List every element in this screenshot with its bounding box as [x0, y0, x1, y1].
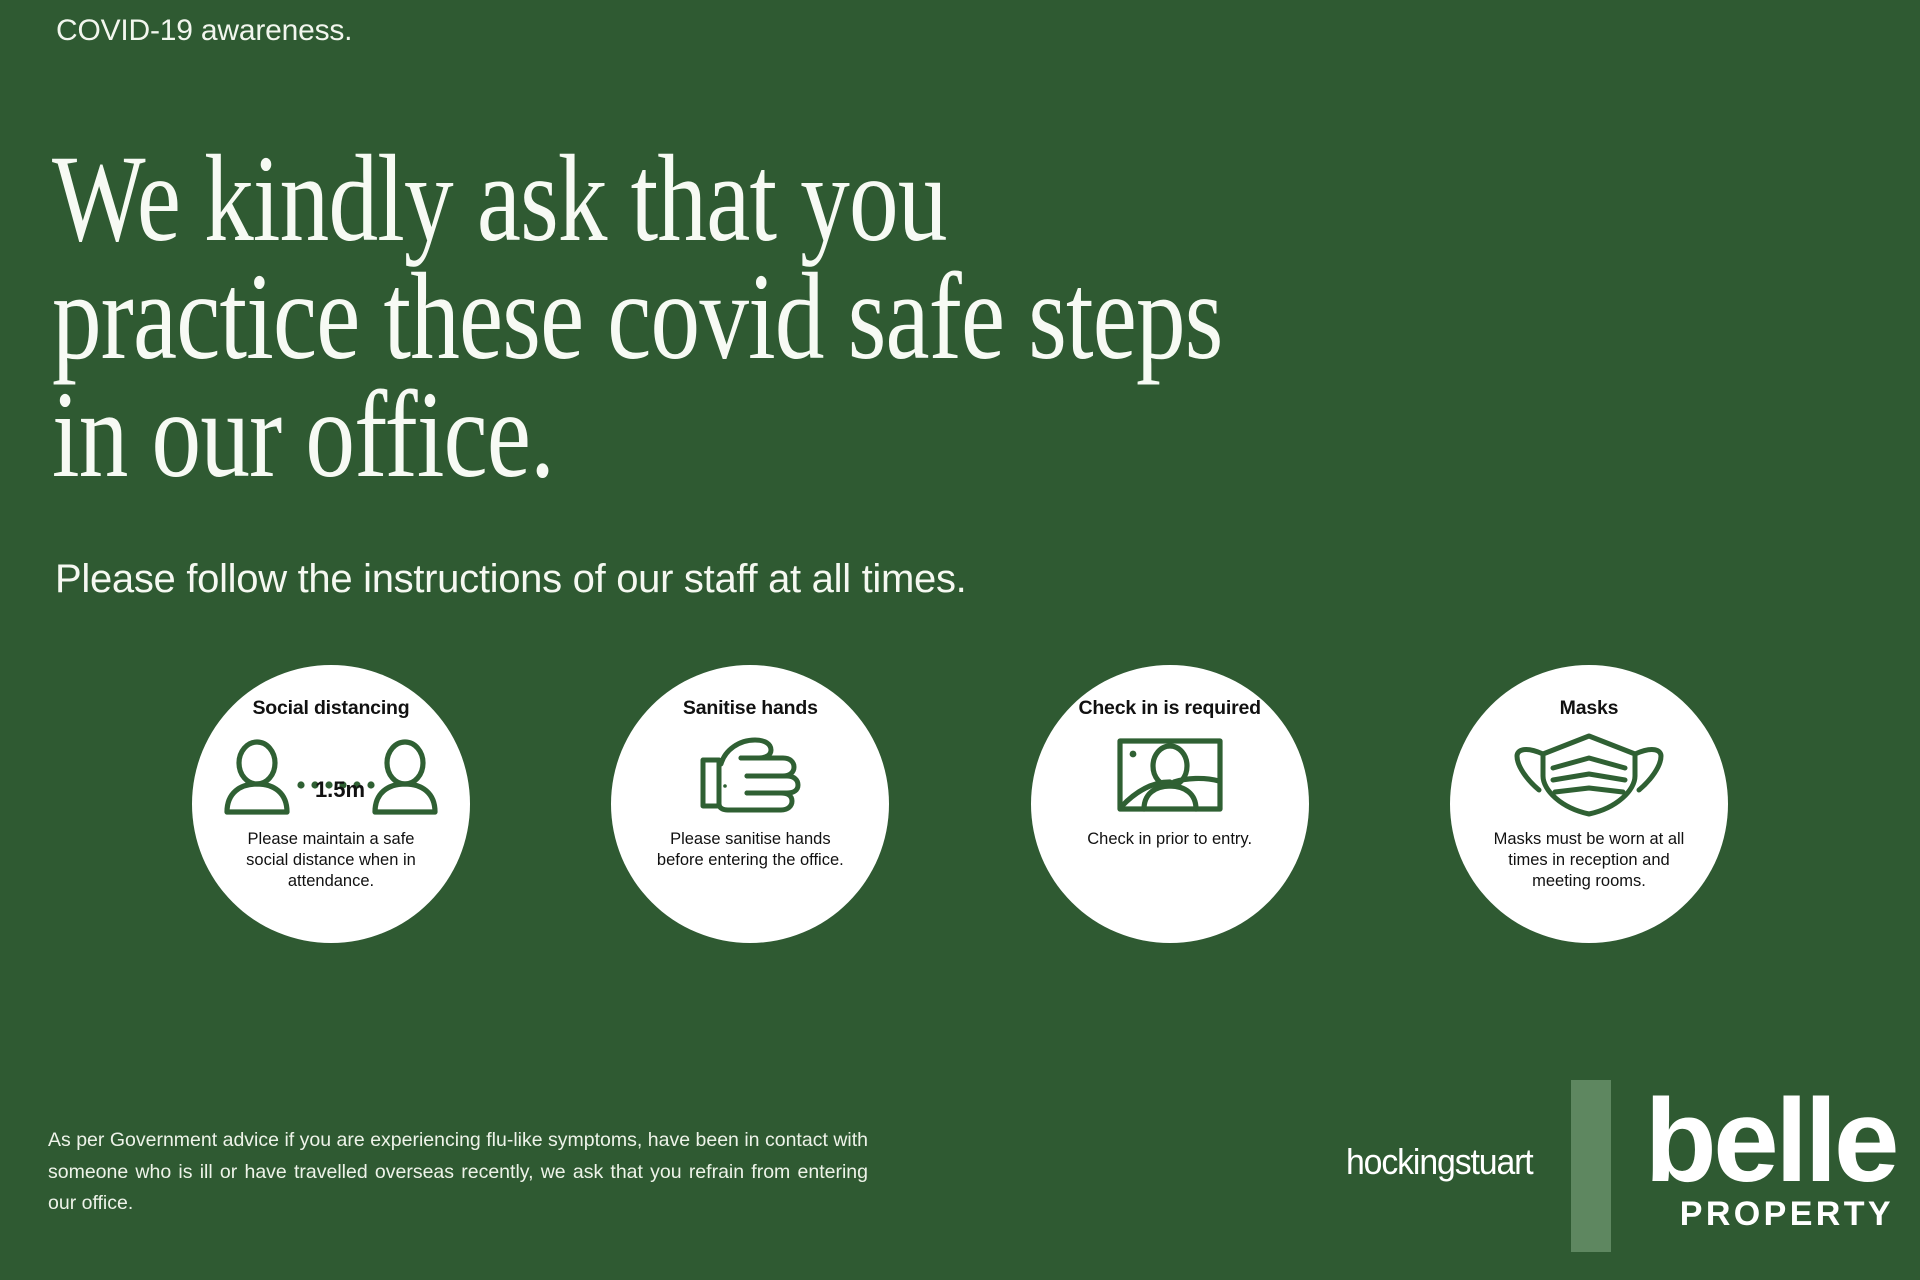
step-card-sanitise-hands: Sanitise hands Please: [611, 665, 889, 943]
step-description: Check in prior to entry.: [1067, 829, 1272, 850]
page-title: We kindly ask that you practice these co…: [52, 140, 1428, 493]
step-description: Please maintain a safe social distance w…: [229, 829, 434, 892]
page-subtitle: Please follow the instructions of our st…: [55, 557, 967, 602]
face-mask-icon: [1513, 733, 1665, 817]
step-title: Social distancing: [253, 699, 410, 719]
belle-wordmark: belle: [1645, 1093, 1896, 1190]
step-card-check-in: Check in is required Check in prior: [1031, 665, 1309, 943]
distance-label: 1.5m: [315, 777, 365, 803]
hand-sanitise-icon: [695, 733, 805, 817]
covid-steps-row: Social distancing: [192, 665, 1728, 953]
belle-property-subtext: PROPERTY: [1680, 1195, 1894, 1234]
belle-property-logo: belle PROPERTY: [1645, 1093, 1896, 1235]
government-advice-note: As per Government advice if you are expe…: [48, 1125, 868, 1220]
step-title: Masks: [1560, 699, 1619, 719]
eyebrow-label: COVID-19 awareness.: [56, 14, 352, 48]
step-card-social-distancing: Social distancing: [192, 665, 470, 943]
step-description: Please sanitise hands before entering th…: [648, 829, 853, 871]
logo-lockup: hockingstuart belle PROPERTY: [1340, 1073, 1896, 1258]
logo-divider: [1571, 1080, 1611, 1252]
step-description: Masks must be worn at all times in recep…: [1486, 829, 1691, 892]
step-title: Sanitise hands: [683, 699, 818, 719]
hockingstuart-logo: hockingstuart: [1346, 1141, 1533, 1183]
step-title: Check in is required: [1078, 699, 1260, 719]
two-people-distance-icon: [221, 733, 441, 817]
step-card-masks: Masks Masks must be worn at all times in…: [1450, 665, 1728, 943]
check-in-card-icon: [1116, 733, 1224, 817]
